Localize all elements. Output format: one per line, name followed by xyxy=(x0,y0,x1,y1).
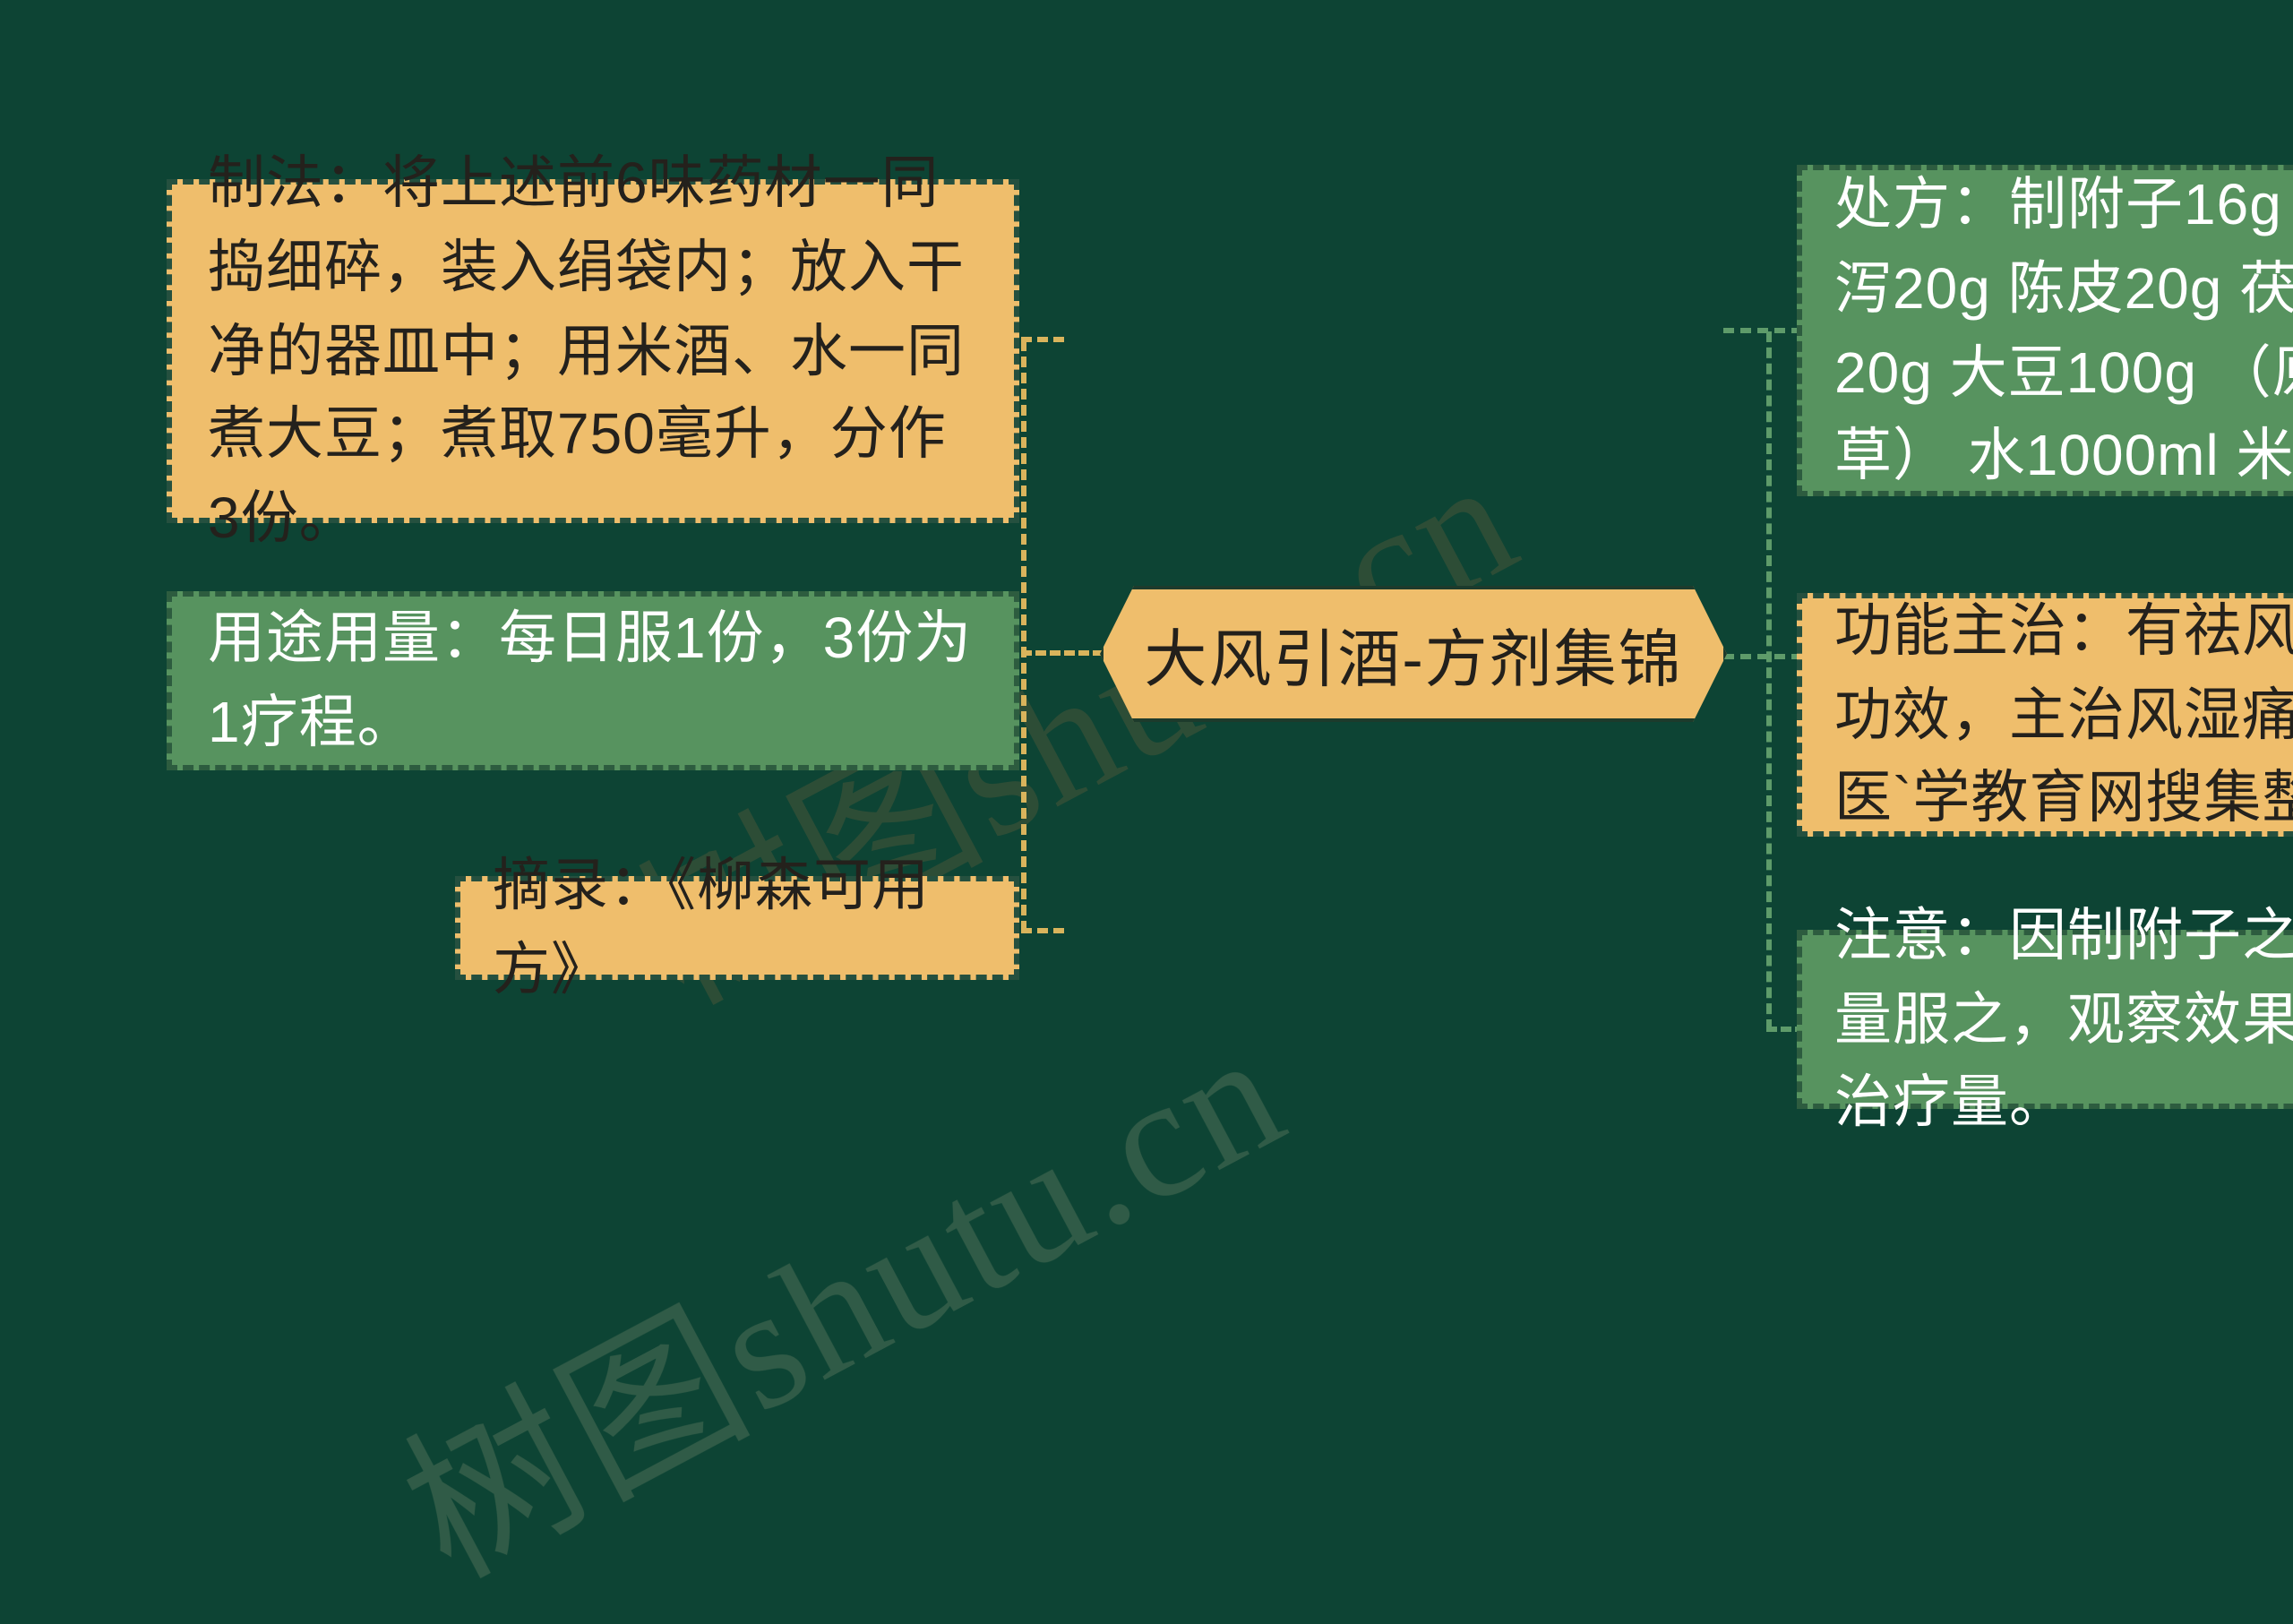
connector-right-spine xyxy=(1766,331,1772,1030)
connector-left-branch-2 xyxy=(1021,650,1104,656)
connector-right-branch-2 xyxy=(1723,654,1802,659)
node-caution-label: 注意：因制附子之毒性，可小量服之，观察效果，再酌加至治疗量。 xyxy=(1834,894,2293,1145)
connector-left-branch-3 xyxy=(1021,928,1064,933)
watermark: 树图shutu.cn xyxy=(356,954,1318,1623)
mindmap-canvas: 树图shutu.cn 树图shutu.cn 树图shutu.cn 树图shutu… xyxy=(0,0,2293,1039)
node-indications[interactable]: 功能主治：有祛风利湿止痛的功效，主治风湿痛，遍身胀满医`学教育网搜集整理。 xyxy=(1797,593,2293,837)
node-center-topic-label: 大风引酒-方剂集锦 xyxy=(1144,608,1682,700)
connector-left-branch-1 xyxy=(1021,337,1064,342)
connector-right-branch-1 xyxy=(1723,328,1802,333)
node-caution[interactable]: 注意：因制附子之毒性，可小量服之，观察效果，再酌加至治疗量。 xyxy=(1797,930,2293,1109)
node-preparation-method[interactable]: 制法：将上述前6味药材一同捣细碎，装入绢袋内；放入干净的器皿中；用米酒、水一同煮… xyxy=(167,179,1019,523)
node-usage-dosage[interactable]: 用途用量：每日服1份，3份为1疗程。 xyxy=(167,591,1019,770)
node-usage-dosage-label: 用途用量：每日服1份，3份为1疗程。 xyxy=(208,597,978,765)
node-prescription-label: 处方：制附子16g 枳实20g 泽泻20g 陈皮20g 茯苓20g 防风20g … xyxy=(1834,163,2293,498)
node-source-excerpt[interactable]: 摘录：《柳森可用方》 xyxy=(455,876,1019,980)
node-source-excerpt-label: 摘录：《柳森可用方》 xyxy=(493,845,982,1012)
node-preparation-method-label: 制法：将上述前6味药材一同捣细碎，装入绢袋内；放入干净的器皿中；用米酒、水一同煮… xyxy=(208,142,978,560)
node-prescription[interactable]: 处方：制附子16g 枳实20g 泽泻20g 陈皮20g 茯苓20g 防风20g … xyxy=(1797,165,2293,496)
node-center-topic[interactable]: 大风引酒-方剂集锦 xyxy=(1100,586,1727,722)
connector-left-spine xyxy=(1021,340,1026,932)
node-indications-label: 功能主治：有祛风利湿止痛的功效，主治风湿痛，遍身胀满医`学教育网搜集整理。 xyxy=(1834,589,2293,840)
hexagon-shape: 大风引酒-方剂集锦 xyxy=(1100,586,1727,722)
